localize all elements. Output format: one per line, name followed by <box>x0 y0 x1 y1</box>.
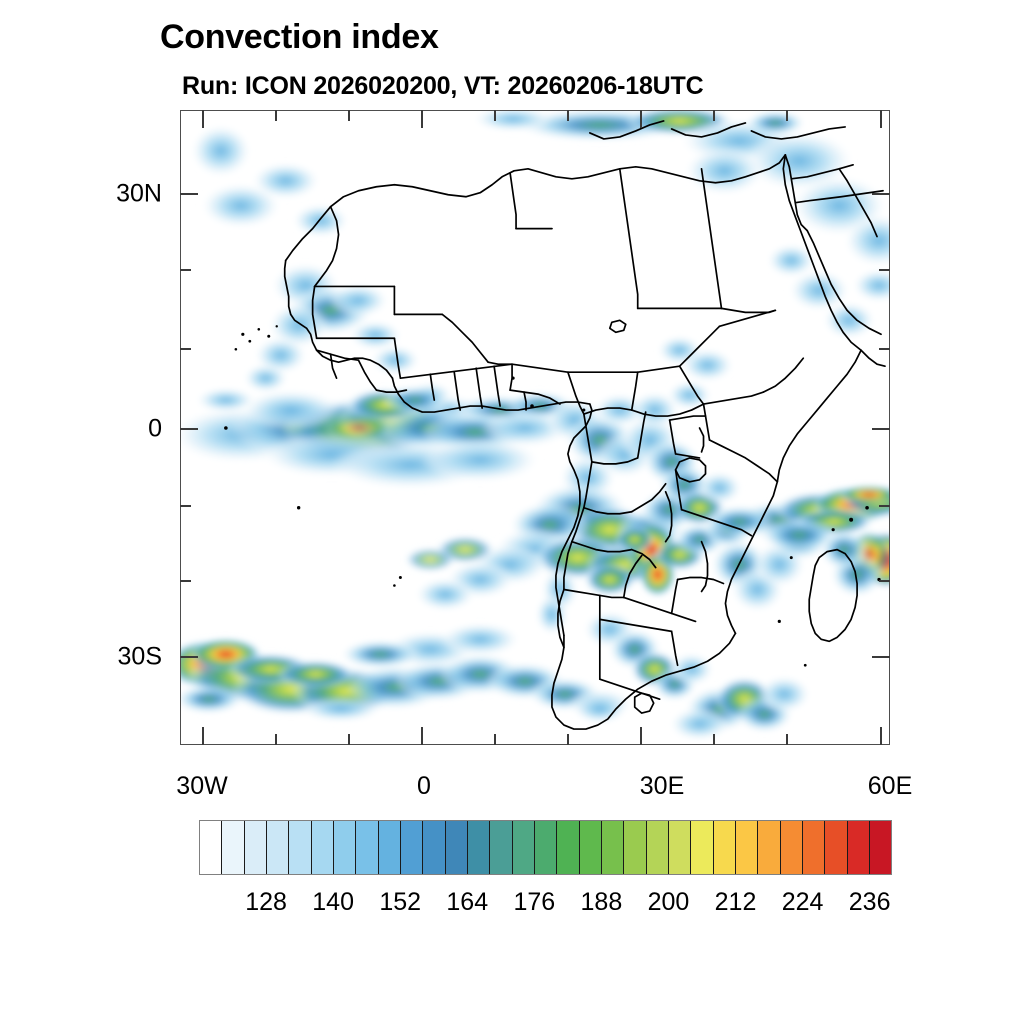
colorbar-tick-label: 188 <box>581 888 623 917</box>
colorbar-cell <box>557 821 579 874</box>
colorbar-cell <box>602 821 624 874</box>
colorbar-cell <box>669 821 691 874</box>
colorbar-cell <box>401 821 423 874</box>
convection-index-figure: Convection index Run: ICON 2026020200, V… <box>0 0 1024 1024</box>
colorbar-cell <box>870 821 891 874</box>
x-axis-label-30e: 30E <box>640 772 684 801</box>
colorbar-cell <box>691 821 713 874</box>
colorbar-tick-label: 152 <box>379 888 421 917</box>
colorbar-tick-label: 176 <box>513 888 555 917</box>
colorbar-cell <box>267 821 289 874</box>
colorbar-tick-label: 164 <box>446 888 488 917</box>
colorbar-cell <box>200 821 222 874</box>
colorbar-cell <box>624 821 646 874</box>
x-axis-label-30w: 30W <box>176 772 227 801</box>
page-title: Convection index <box>160 18 439 57</box>
colorbar-cell <box>580 821 602 874</box>
colorbar-cell <box>647 821 669 874</box>
colorbar-cell <box>736 821 758 874</box>
colorbar-cell <box>513 821 535 874</box>
island-dots <box>181 111 889 744</box>
colorbar-cell <box>222 821 244 874</box>
colorbar-cell <box>781 821 803 874</box>
colorbar-cell <box>379 821 401 874</box>
x-axis-label-60e: 60E <box>868 772 912 801</box>
colorbar-cell <box>312 821 334 874</box>
y-axis-label-0: 0 <box>96 415 162 444</box>
colorbar-cell <box>714 821 736 874</box>
colorbar-cell <box>825 821 847 874</box>
run-validtime-subtitle: Run: ICON 2026020200, VT: 20260206-18UTC <box>182 72 703 101</box>
colorbar-tick-label: 212 <box>715 888 757 917</box>
colorbar-cell <box>848 821 870 874</box>
y-axis-label-30s: 30S <box>96 643 162 672</box>
colorbar-tick-label: 236 <box>849 888 891 917</box>
colorbar-cell <box>490 821 512 874</box>
colorbar-cell <box>446 821 468 874</box>
colorbar-tick-label: 224 <box>782 888 824 917</box>
colorbar-tick-label: 128 <box>245 888 287 917</box>
colorbar-cell <box>803 821 825 874</box>
colorbar-cell <box>468 821 490 874</box>
colorbar-tick-label: 200 <box>648 888 690 917</box>
colorbar-cell <box>289 821 311 874</box>
colorbar-cell <box>356 821 378 874</box>
colorbar-cell <box>423 821 445 874</box>
colorbar-cell <box>334 821 356 874</box>
map-plot-area <box>180 110 890 745</box>
colorbar-cell <box>535 821 557 874</box>
x-axis-label-0: 0 <box>417 772 431 801</box>
colorbar-tick-label: 140 <box>312 888 354 917</box>
colorbar-cell <box>245 821 267 874</box>
colorbar[interactable] <box>199 820 892 875</box>
y-axis-label-30n: 30N <box>96 180 162 209</box>
colorbar-cell <box>758 821 780 874</box>
